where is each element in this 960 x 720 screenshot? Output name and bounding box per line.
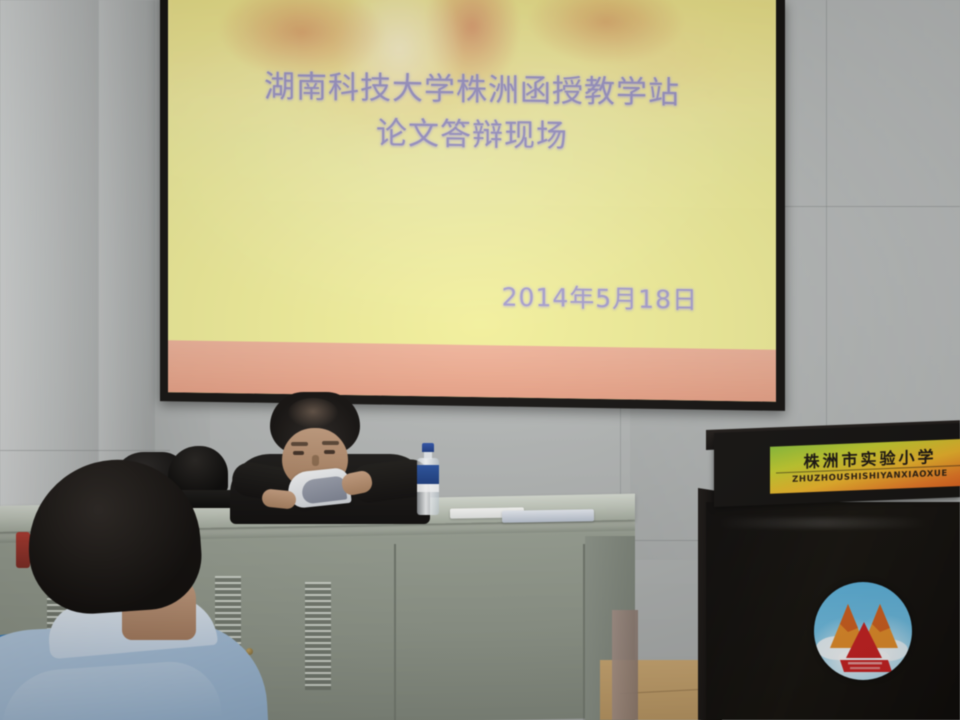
desk-panel-divider <box>583 544 585 720</box>
water-bottle <box>416 443 440 515</box>
bottle-label <box>417 465 439 484</box>
paper-stack <box>502 509 594 523</box>
foreground-attendee <box>0 460 270 720</box>
slide-title-line-2: 论文答辩现场 <box>168 104 776 159</box>
school-name-sign: 株洲市实验小学 ZHUZHOUSHISHIYANXIAOXUE <box>770 439 960 494</box>
lectern: 株洲市实验小学 ZHUZHOUSHISHIYANXIAOXUE <box>706 430 960 720</box>
man-nose <box>312 455 319 466</box>
bottle-neck <box>424 452 432 459</box>
man-eye <box>324 450 335 454</box>
slide-date: 2014年5月18日 <box>168 272 776 318</box>
school-logo <box>814 582 912 680</box>
bottle-label-lower <box>417 484 439 492</box>
desk-panel-divider <box>394 544 396 720</box>
lectern-sign-plate: 株洲市实验小学 ZHUZHOUSHISHIYANXIAOXUE <box>714 423 960 507</box>
man-eyebrow <box>322 441 339 445</box>
lecture-hall-photo: 湖南科技大学株洲函授教学站 论文答辩现场 2014年5月18日 <box>0 0 960 720</box>
man-eye <box>293 451 304 455</box>
bottle-cap <box>422 443 434 452</box>
projection-screen-frame: 湖南科技大学株洲函授教学站 论文答辩现场 2014年5月18日 <box>160 0 785 411</box>
desk-vent <box>305 582 331 690</box>
man-eyebrow <box>291 442 308 446</box>
man-scalp <box>288 398 338 428</box>
attendee-hair <box>23 454 205 618</box>
wall-pillar <box>612 610 638 720</box>
lectern-highlight <box>716 518 931 528</box>
projection-screen-surface: 湖南科技大学株洲函授教学站 论文答辩现场 2014年5月18日 <box>168 0 776 402</box>
